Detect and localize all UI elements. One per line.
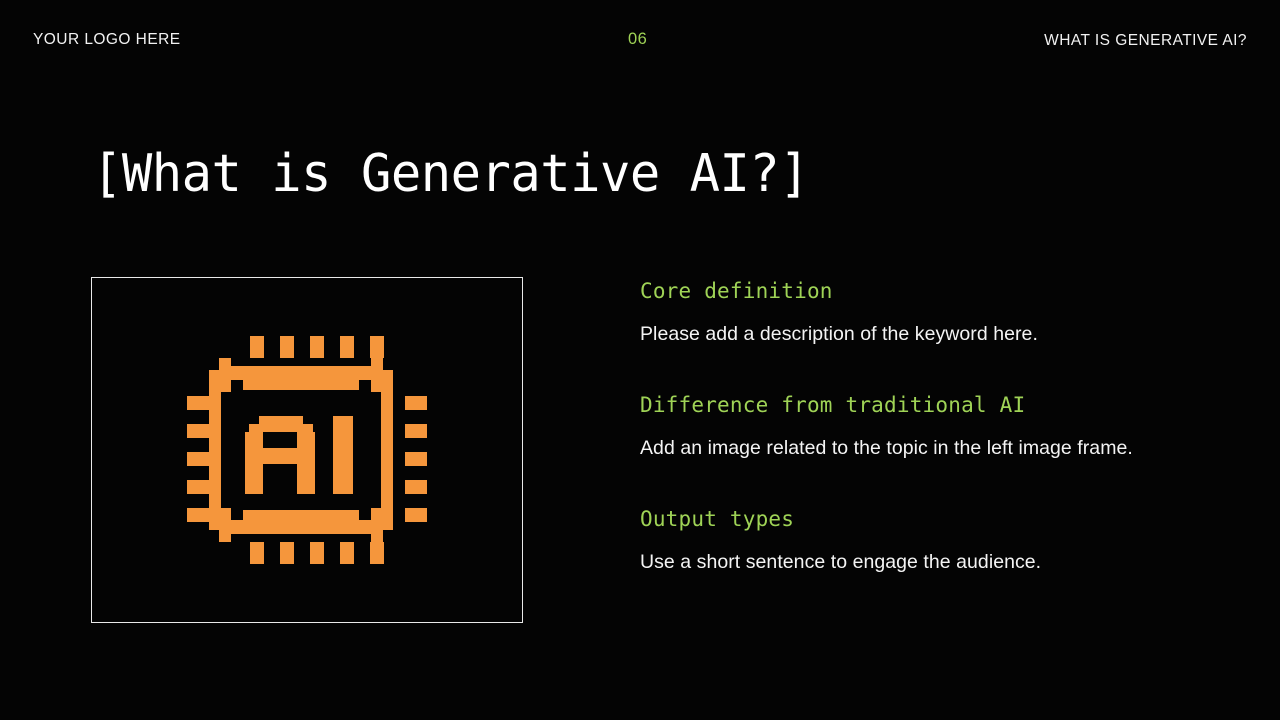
content-block: Output types Use a short sentence to eng… [640,505,1240,575]
slide-header: YOUR LOGO HERE 06 WHAT IS GENERATIVE AI? [0,0,1280,84]
content-column: Core definition Please add a description… [640,277,1240,575]
content-block-body: Add an image related to the topic in the… [640,435,1240,461]
ai-chip-icon-svg [187,336,427,564]
slide-root: YOUR LOGO HERE 06 WHAT IS GENERATIVE AI?… [0,0,1280,720]
content-block-body: Please add a description of the keyword … [640,321,1240,347]
logo-placeholder: YOUR LOGO HERE [33,31,181,49]
page-number: 06 [628,30,647,49]
content-block: Core definition Please add a description… [640,277,1240,347]
content-block-heading: Core definition [640,277,1240,305]
ai-chip-icon [187,336,427,564]
content-block-heading: Difference from traditional AI [640,391,1240,419]
section-label: WHAT IS GENERATIVE AI? [1044,32,1247,50]
page-title: [What is Generative AI?] [92,140,809,208]
image-frame [91,277,523,623]
content-block-body: Use a short sentence to engage the audie… [640,549,1240,575]
content-block-heading: Output types [640,505,1240,533]
content-block: Difference from traditional AI Add an im… [640,391,1240,461]
